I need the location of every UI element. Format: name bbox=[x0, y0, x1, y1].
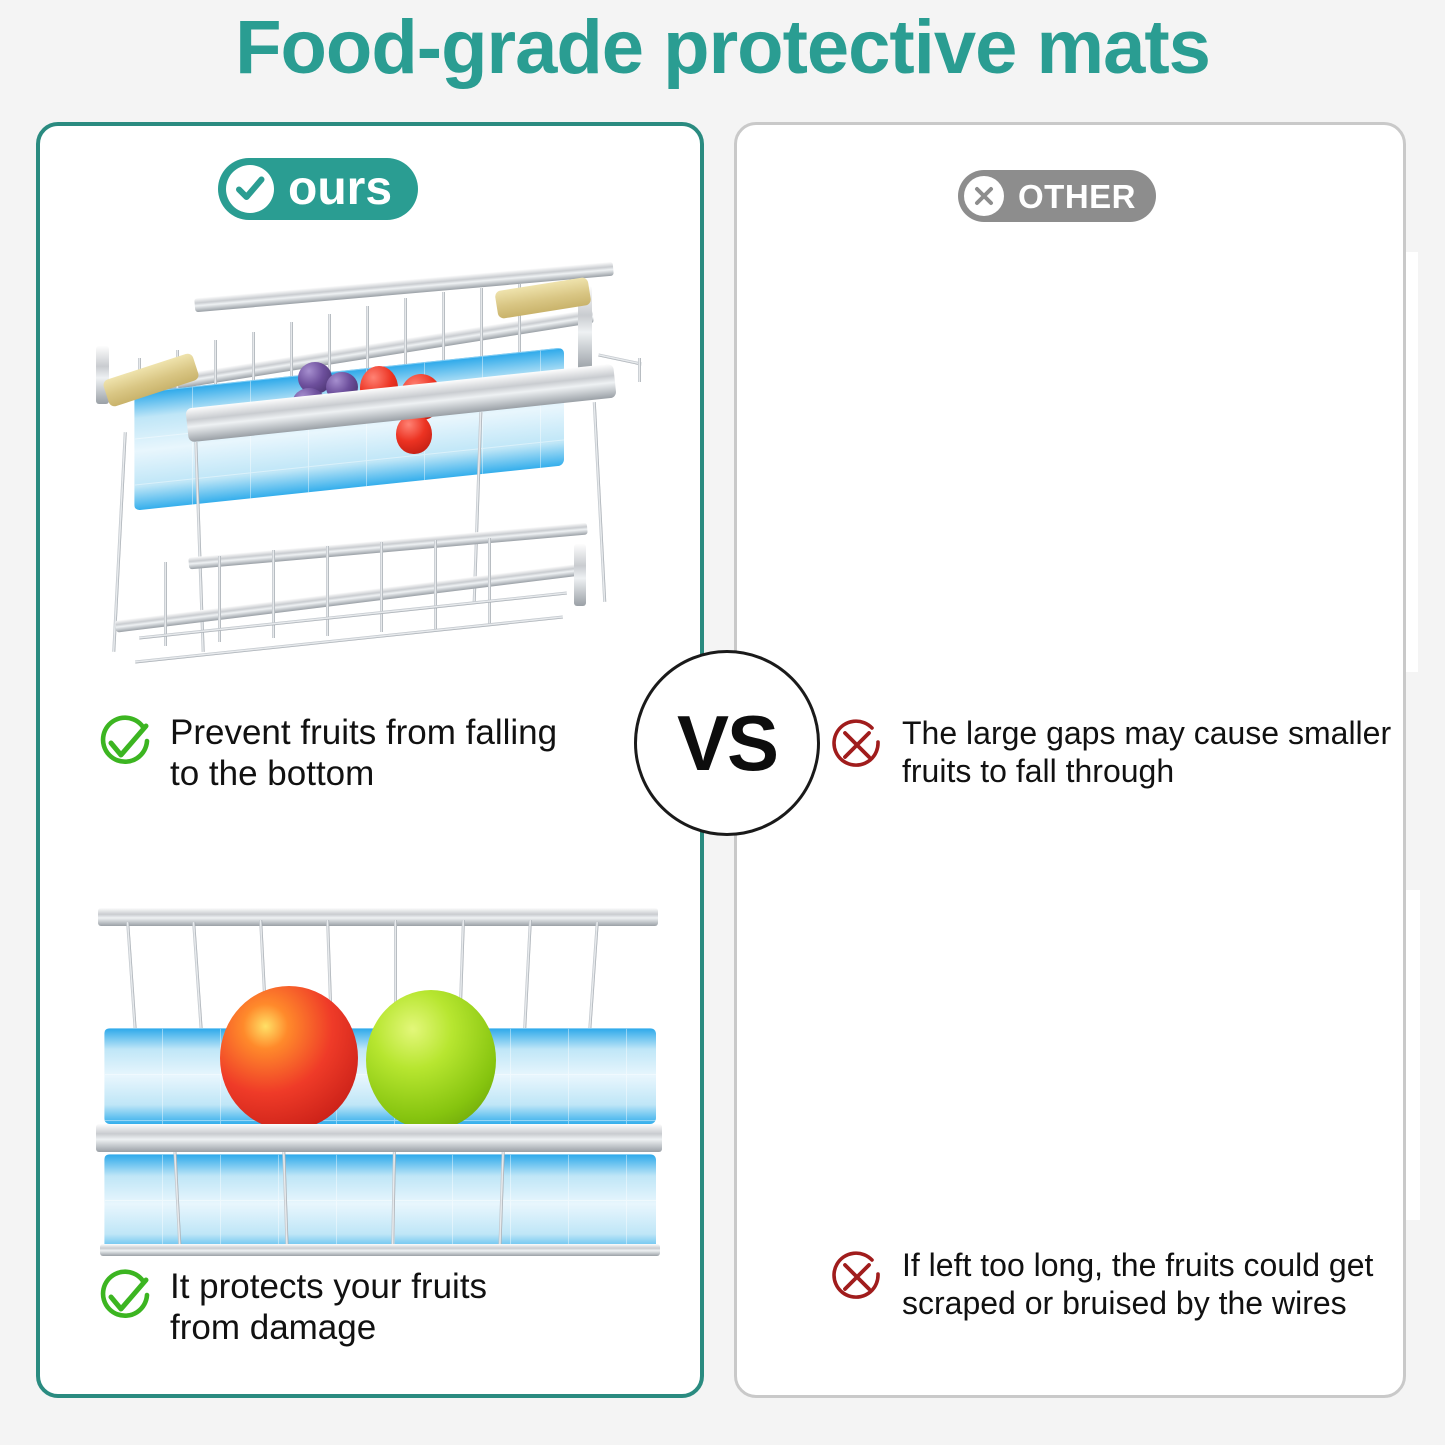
cross-circle-outline-icon bbox=[828, 716, 886, 774]
feature-other-1: The large gaps may cause smaller fruits … bbox=[828, 714, 1418, 790]
check-circle-outline-icon bbox=[96, 1268, 154, 1326]
badge-other-label: OTHER bbox=[1018, 180, 1136, 213]
check-circle-icon bbox=[226, 165, 274, 213]
red-apple bbox=[220, 986, 358, 1130]
apples-on-blue-mat-photo bbox=[88, 888, 688, 1258]
vs-label: VS bbox=[677, 704, 777, 782]
badge-ours-label: ours bbox=[288, 165, 392, 213]
badge-ours[interactable]: ours bbox=[218, 158, 418, 220]
feature-other-1-text: The large gaps may cause smaller fruits … bbox=[902, 714, 1391, 790]
green-apple bbox=[366, 990, 496, 1130]
comparison-infographic: Food-grade protective mats ours bbox=[0, 0, 1445, 1445]
cross-circle-outline-icon bbox=[828, 1248, 886, 1306]
feature-other-2: If left too long, the fruits could get s… bbox=[828, 1246, 1418, 1322]
vs-circle-icon: VS bbox=[634, 650, 820, 836]
feature-ours-1-text: Prevent fruits from falling to the botto… bbox=[170, 712, 557, 794]
check-circle-outline-icon bbox=[96, 714, 154, 772]
feature-other-2-text: If left too long, the fruits could get s… bbox=[902, 1246, 1373, 1322]
feature-ours-2: It protects your fruits from damage bbox=[96, 1266, 656, 1348]
chrome-rack-with-blue-mat-photo bbox=[78, 262, 688, 672]
page-title: Food-grade protective mats bbox=[0, 8, 1445, 88]
x-circle-icon bbox=[964, 176, 1004, 216]
feature-ours-2-text: It protects your fruits from damage bbox=[170, 1266, 487, 1348]
feature-ours-1: Prevent fruits from falling to the botto… bbox=[96, 712, 676, 794]
badge-other[interactable]: OTHER bbox=[958, 170, 1156, 222]
